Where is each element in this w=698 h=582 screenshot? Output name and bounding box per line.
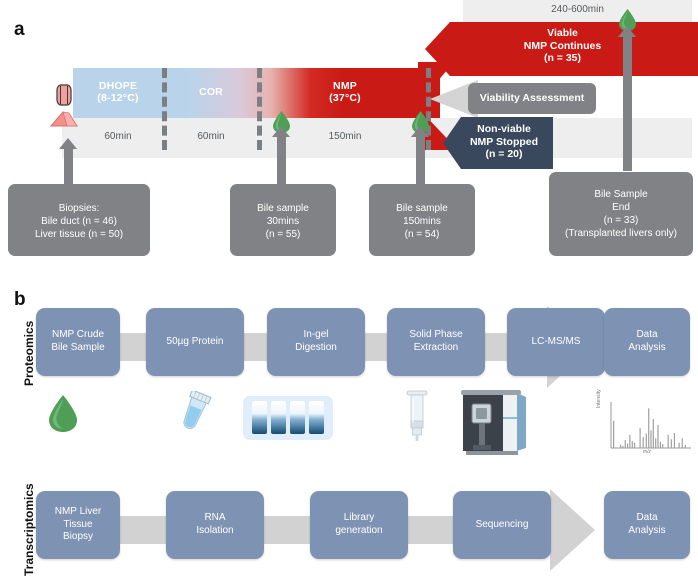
phase-divider-3 — [426, 68, 436, 150]
step-p4-line-1: Solid Phase — [387, 329, 485, 342]
step-p5-line-1: LC-MS/MS — [507, 336, 605, 349]
step-box-sequencing[interactable]: Sequencing — [453, 491, 551, 559]
step-box-nmp-liver-tissue-biopsy[interactable]: NMP Liver Tissue Biopsy — [36, 491, 120, 559]
step-t2-line-1: RNA — [166, 512, 264, 525]
bile150-line-2: 150mins — [369, 215, 475, 228]
caption-box-bile-30: Bile sample 30mins (n = 55) — [230, 184, 336, 256]
step-box-proteomics-data-analysis[interactable]: Data Analysis — [604, 308, 690, 376]
viable-nmp-continues-label: Viable NMP Continues (n = 35) — [455, 27, 670, 65]
bile30-line-2: 30mins — [230, 215, 336, 228]
timeline-top-duration: 240-600min — [463, 4, 692, 15]
step-t2-line-2: Isolation — [166, 525, 264, 538]
step-p6-line-2: Analysis — [604, 342, 690, 355]
bile150-line-3: (n = 54) — [369, 228, 475, 241]
mass-spectrometer-icon — [458, 388, 532, 461]
step-t1-line-3: Biopsy — [36, 531, 120, 544]
arrow-to-biopsies — [64, 148, 73, 184]
step-p1-line-1: NMP Crude — [36, 329, 120, 342]
viable-line-3: (n = 35) — [455, 52, 670, 65]
mass-spectrum-chart: Intensity m/z — [597, 398, 693, 460]
spectrum-ylabel: Intensity — [596, 364, 602, 408]
step-t5-line-1: Data — [604, 512, 690, 525]
step-p6-line-1: Data — [604, 329, 690, 342]
phase-cor-name: COR — [168, 86, 254, 98]
duration-dhope: 60min — [73, 131, 163, 142]
phase-label-cor: COR — [168, 86, 254, 98]
panel-a-timeline: a 240-600min Viable NMP Continues (n = 3… — [0, 0, 698, 288]
step-p2-line-1: 50µg Protein — [146, 336, 244, 349]
phase-label-dhope: DHOPE (8-12°C) — [73, 80, 163, 104]
step-t1-line-1: NMP Liver — [36, 506, 120, 519]
step-box-in-gel-digestion[interactable]: In-gel Digestion — [267, 308, 365, 376]
non-viable-line-3: (n = 20) — [461, 148, 547, 161]
caption-box-bile-150: Bile sample 150mins (n = 54) — [369, 184, 475, 256]
step-p4-line-2: Extraction — [387, 342, 485, 355]
step-t4-line-1: Sequencing — [453, 519, 551, 532]
phase-label-nmp: NMP (37°C) — [300, 80, 390, 104]
step-t5-line-2: Analysis — [604, 525, 690, 538]
viable-line-1: Viable — [455, 27, 670, 40]
bile30-line-3: (n = 55) — [230, 228, 336, 241]
viability-assessment-box: Viability Assessment — [468, 83, 596, 114]
arrow-to-bile-end — [623, 36, 632, 171]
bile150-line-1: Bile sample — [369, 202, 475, 215]
spectrum-xlabel: m/z — [643, 449, 651, 455]
panel-b-letter: b — [14, 290, 26, 309]
bileend-line-4: (Transplanted livers only) — [549, 227, 693, 240]
caption-box-biopsies: Biopsies: Bile duct (n = 46) Liver tissu… — [8, 184, 150, 256]
non-viable-nmp-stopped-box: Non-viable NMP Stopped (n = 20) — [443, 117, 553, 169]
connector-p-2 — [243, 333, 269, 361]
step-t1-line-2: Tissue — [36, 519, 120, 532]
step-box-50ug-protein[interactable]: 50µg Protein — [146, 308, 244, 376]
phase-nmp-name: NMP — [300, 80, 390, 92]
step-box-transcriptomics-data-analysis[interactable]: Data Analysis — [604, 491, 690, 559]
viability-assessment-label: Viability Assessment — [468, 83, 596, 114]
transcriptomics-flow-arrow-head — [550, 489, 595, 571]
bileend-line-1: Bile Sample — [549, 188, 693, 201]
step-p3-line-1: In-gel — [267, 329, 365, 342]
connector-t-1 — [118, 516, 168, 544]
step-box-solid-phase-extraction[interactable]: Solid Phase Extraction — [387, 308, 485, 376]
connector-p-1 — [118, 333, 148, 361]
gel-wells-icon — [243, 396, 333, 445]
liver-tissue-icon — [50, 110, 80, 128]
connector-p-3 — [363, 333, 389, 361]
duration-nmp: 150min — [300, 131, 390, 142]
phase-divider-2 — [257, 68, 267, 150]
phase-dhope-name: DHOPE — [73, 80, 163, 92]
biopsies-line-3: Liver tissue (n = 50) — [8, 228, 150, 241]
connector-p-4 — [483, 333, 509, 361]
bileend-line-3: (n = 33) — [549, 214, 693, 227]
phase-dhope-temp: (8-12°C) — [73, 92, 163, 104]
non-viable-label: Non-viable NMP Stopped (n = 20) — [461, 123, 547, 161]
bile-duct-icon — [56, 84, 72, 106]
step-p1-line-2: Bile Sample — [36, 342, 120, 355]
duration-cor: 60min — [168, 131, 254, 142]
bile30-line-1: Bile sample — [230, 202, 336, 215]
bile-droplet-icon — [46, 393, 80, 438]
caption-box-bile-end: Bile Sample End (n = 33) (Transplanted l… — [549, 172, 693, 256]
phase-divider-1 — [162, 68, 172, 150]
step-t3-line-2: generation — [310, 525, 408, 538]
step-box-nmp-crude-bile-sample[interactable]: NMP Crude Bile Sample — [36, 308, 120, 376]
spe-cartridge-icon — [400, 390, 434, 447]
phase-nmp-temp: (37°C) — [300, 92, 390, 104]
arrow-to-bile-150 — [416, 136, 425, 184]
step-box-library-generation[interactable]: Library generation — [310, 491, 408, 559]
connector-t-2 — [262, 516, 312, 544]
step-box-rna-isolation[interactable]: RNA Isolation — [166, 491, 264, 559]
step-p3-line-2: Digestion — [267, 342, 365, 355]
non-viable-line-2: NMP Stopped — [461, 136, 547, 149]
row-label-proteomics: Proteomics — [22, 321, 36, 386]
arrow-to-bile-30 — [277, 136, 286, 184]
step-box-lc-ms-ms[interactable]: LC-MS/MS — [507, 308, 605, 376]
connector-t-3 — [405, 516, 455, 544]
biopsies-line-1: Biopsies: — [8, 202, 150, 215]
step-t3-line-1: Library — [310, 512, 408, 525]
row-label-transcriptomics: Transcriptomics — [22, 483, 36, 576]
viable-line-2: NMP Continues — [455, 40, 670, 53]
bileend-line-2: End — [549, 201, 693, 214]
biopsies-line-2: Bile duct (n = 46) — [8, 215, 150, 228]
panel-a-letter: a — [14, 20, 25, 39]
microtube-icon — [168, 391, 218, 444]
panel-b-workflows: b Proteomics NMP Crude Bile Sample 50µg … — [0, 288, 698, 582]
non-viable-line-1: Non-viable — [461, 123, 547, 136]
